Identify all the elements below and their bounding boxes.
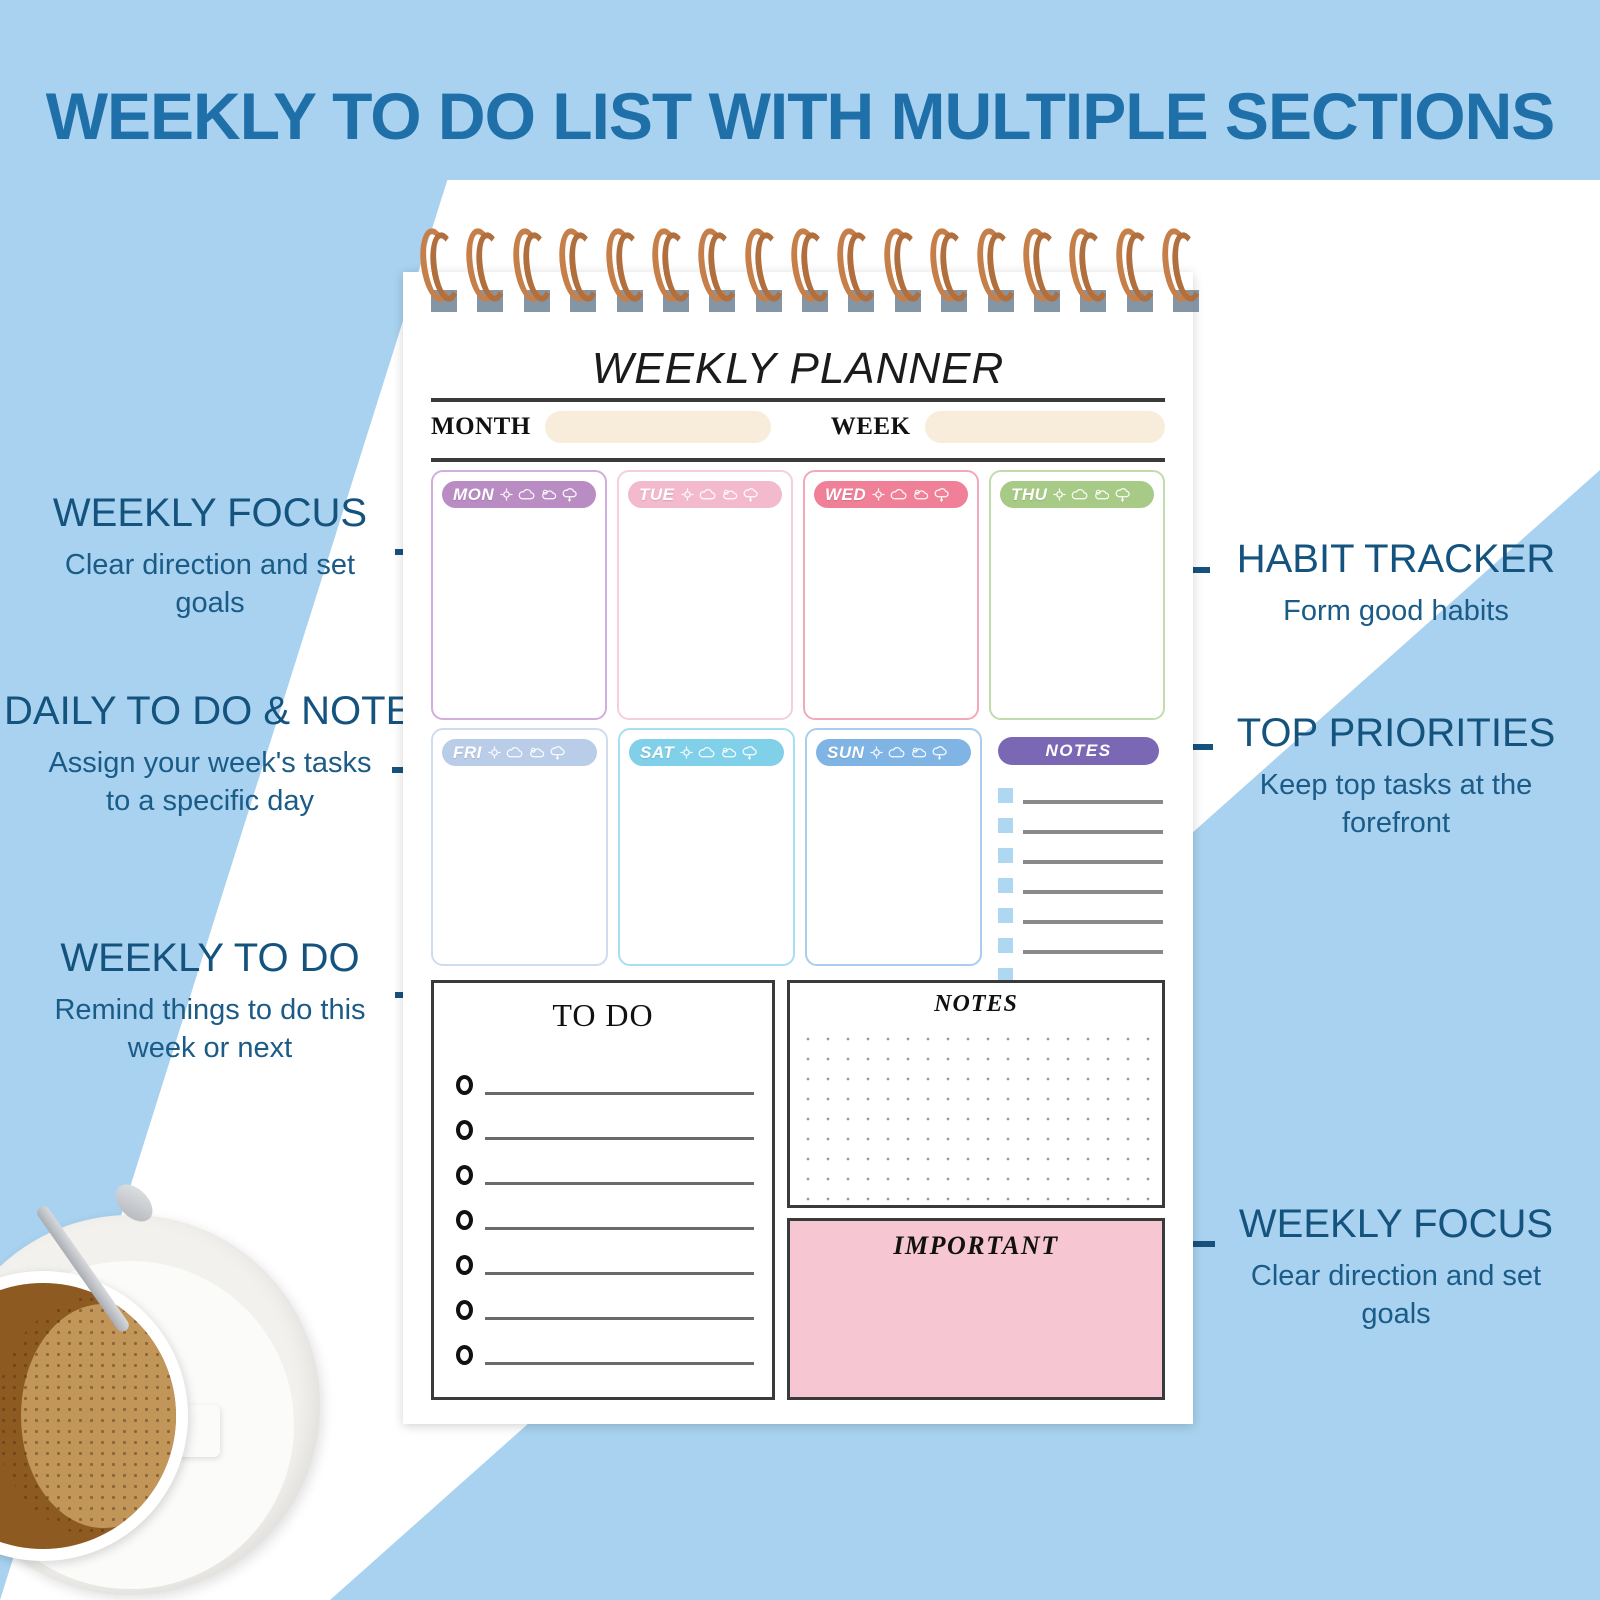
cloud-icon[interactable] (518, 488, 535, 501)
top-priorities-panel: NOTES (992, 728, 1165, 966)
priority-checkbox[interactable] (998, 938, 1013, 953)
spiral-ring (931, 228, 971, 320)
spiral-ring (1024, 228, 1064, 320)
spiral-ring (1070, 228, 1110, 320)
notes-dot-grid (790, 1025, 1162, 1205)
priority-write-line[interactable] (1023, 920, 1163, 924)
divider-bottom (431, 458, 1165, 462)
day-tab: THU (1000, 481, 1154, 508)
day-cell-sun[interactable]: SUN (805, 728, 982, 966)
sun-icon[interactable] (870, 746, 883, 759)
partly-cloudy-icon[interactable] (912, 488, 929, 501)
day-cell-fri[interactable]: FRI (431, 728, 608, 966)
callout-title: WEEKLY TO DO (8, 937, 412, 979)
callout-subtitle: Clear direction and set goals (1198, 1257, 1594, 1334)
todo-write-line[interactable] (485, 1182, 754, 1185)
week-input[interactable] (925, 411, 1165, 443)
day-label: FRI (453, 743, 482, 763)
todo-write-line[interactable] (485, 1272, 754, 1275)
todo-checkbox-icon[interactable] (456, 1210, 473, 1230)
day-tab: TUE (628, 481, 782, 508)
spiral-ring (838, 228, 878, 320)
callout-title: WEEKLY FOCUS (1198, 1203, 1594, 1245)
notes-tab[interactable]: NOTES (998, 737, 1159, 765)
priority-row[interactable] (998, 840, 1163, 870)
priority-write-line[interactable] (1023, 950, 1163, 954)
sun-icon[interactable] (1053, 488, 1066, 501)
weather-icon-group (680, 746, 757, 760)
priority-write-line[interactable] (1023, 800, 1163, 804)
partly-cloudy-icon[interactable] (720, 746, 737, 759)
cloud-icon[interactable] (699, 488, 716, 501)
divider-top (431, 398, 1165, 402)
poster-canvas: WEEKLY TO DO LIST WITH MULTIPLE SECTIONS… (0, 0, 1600, 1600)
callout-subtitle: Clear direction and set goals (10, 546, 410, 623)
day-tab: SUN (816, 739, 971, 766)
todo-row[interactable] (456, 1236, 754, 1281)
partly-cloudy-icon[interactable] (910, 746, 927, 759)
partly-cloudy-icon[interactable] (1093, 488, 1110, 501)
important-title: IMPORTANT (790, 1221, 1162, 1261)
todo-row[interactable] (456, 1056, 754, 1101)
priority-checkbox[interactable] (998, 818, 1013, 833)
partly-cloudy-icon[interactable] (540, 488, 557, 501)
spiral-ring (421, 228, 461, 320)
spiral-ring (467, 228, 507, 320)
month-week-row: MONTH WEEK (431, 406, 1165, 448)
rain-cloud-icon[interactable] (550, 746, 565, 760)
todo-row[interactable] (456, 1281, 754, 1326)
callout-subtitle: Keep top tasks at the forefront (1198, 766, 1594, 843)
callout-subtitle: Form good habits (1198, 592, 1594, 630)
coffee-cup-photo (0, 1195, 400, 1600)
spiral-ring (607, 228, 647, 320)
todo-checkbox-icon[interactable] (456, 1120, 473, 1140)
spiral-ring (978, 228, 1018, 320)
planner-notebook: WEEKLY PLANNER MONTH WEEK MONTUEWEDTHU F… (403, 272, 1193, 1424)
spoon (50, 1201, 220, 1321)
sun-icon[interactable] (500, 488, 513, 501)
priority-row[interactable] (998, 900, 1163, 930)
weather-icon-group (488, 746, 565, 760)
important-panel[interactable]: IMPORTANT (787, 1218, 1165, 1400)
priority-checkbox[interactable] (998, 848, 1013, 863)
cloud-icon[interactable] (506, 746, 523, 759)
day-label: SUN (827, 743, 864, 763)
spiral-ring (514, 228, 554, 320)
callout-title: DAILY TO DO & NOTES (4, 690, 416, 732)
day-label: WED (825, 485, 866, 505)
todo-row[interactable] (456, 1101, 754, 1146)
todo-write-line[interactable] (485, 1227, 754, 1230)
callout-title: TOP PRIORITIES (1198, 712, 1594, 754)
rain-cloud-icon[interactable] (743, 488, 758, 502)
month-label: MONTH (431, 413, 531, 441)
spiral-ring (653, 228, 693, 320)
spiral-ring (1163, 228, 1203, 320)
callout-subtitle: Assign your week's tasks to a specific d… (4, 744, 416, 821)
planner-page: WEEKLY PLANNER MONTH WEEK MONTUEWEDTHU F… (403, 272, 1193, 1424)
notes-title: NOTES (790, 983, 1162, 1018)
cloud-icon[interactable] (888, 746, 905, 759)
todo-write-line[interactable] (485, 1092, 754, 1095)
right-column: NOTES IMPORTANT (787, 980, 1165, 1400)
weather-icon-group (1053, 488, 1130, 502)
day-label: SAT (640, 743, 674, 763)
weather-icon-group (872, 488, 949, 502)
callout-title: WEEKLY FOCUS (10, 492, 410, 534)
spoon-handle (35, 1204, 132, 1334)
priority-write-line[interactable] (1023, 830, 1163, 834)
spiral-ring (699, 228, 739, 320)
priority-row[interactable] (998, 780, 1163, 810)
rain-cloud-icon[interactable] (934, 488, 949, 502)
day-tab: SAT (629, 739, 784, 766)
callout-weekly-focus-left: WEEKLY FOCUS Clear direction and set goa… (10, 492, 410, 623)
day-grid-row-2: FRISATSUNNOTES (431, 728, 1165, 966)
spiral-ring (792, 228, 832, 320)
todo-checkbox-icon[interactable] (456, 1075, 473, 1095)
todo-checkbox-icon[interactable] (456, 1165, 473, 1185)
callout-daily-todo-notes: DAILY TO DO & NOTES Assign your week's t… (4, 690, 416, 821)
spiral-ring (1117, 228, 1157, 320)
day-tab: WED (814, 481, 968, 508)
partly-cloudy-icon[interactable] (528, 746, 545, 759)
rain-cloud-icon[interactable] (932, 746, 947, 760)
spiral-binding (403, 228, 1193, 333)
todo-write-line[interactable] (485, 1137, 754, 1140)
notes-panel[interactable]: NOTES (787, 980, 1165, 1208)
callout-title: HABIT TRACKER (1198, 538, 1594, 580)
rain-cloud-icon[interactable] (742, 746, 757, 760)
sun-icon[interactable] (488, 746, 501, 759)
todo-checkbox-icon[interactable] (456, 1345, 473, 1365)
spiral-ring (885, 228, 925, 320)
callout-top-priorities: TOP PRIORITIES Keep top tasks at the for… (1198, 712, 1594, 843)
todo-title: TO DO (434, 997, 772, 1034)
bottom-section: TO DO NOTES IMPORTANT (431, 980, 1165, 1400)
coffee-liquid (0, 1283, 176, 1549)
todo-checkbox-icon[interactable] (456, 1255, 473, 1275)
sun-icon[interactable] (680, 746, 693, 759)
day-cell-sat[interactable]: SAT (618, 728, 795, 966)
priority-list (998, 780, 1163, 990)
spiral-ring (746, 228, 786, 320)
day-label: THU (1011, 485, 1047, 505)
weather-icon-group (870, 746, 947, 760)
priority-checkbox[interactable] (998, 788, 1013, 803)
partly-cloudy-icon[interactable] (721, 488, 738, 501)
todo-panel: TO DO (431, 980, 775, 1400)
coffee-bubbles (0, 1283, 176, 1549)
todo-write-line[interactable] (485, 1317, 754, 1320)
todo-list (434, 1056, 772, 1371)
day-label: MON (453, 485, 494, 505)
month-input[interactable] (545, 411, 771, 443)
priority-row[interactable] (998, 870, 1163, 900)
priority-row[interactable] (998, 930, 1163, 960)
callout-habit-tracker: HABIT TRACKER Form good habits (1198, 538, 1594, 630)
rain-cloud-icon[interactable] (562, 488, 577, 502)
todo-row[interactable] (456, 1191, 754, 1236)
page-title: WEEKLY TO DO LIST WITH MULTIPLE SECTIONS (0, 78, 1600, 154)
weather-icon-group (500, 488, 577, 502)
weather-icon-group (681, 488, 758, 502)
day-cell-mon[interactable]: MON (431, 470, 607, 720)
callout-weekly-todo: WEEKLY TO DO Remind things to do this we… (8, 937, 412, 1068)
callout-weekly-focus-right: WEEKLY FOCUS Clear direction and set goa… (1198, 1203, 1594, 1334)
week-label: WEEK (831, 413, 911, 441)
day-label: TUE (639, 485, 675, 505)
spiral-ring (560, 228, 600, 320)
day-grid-row-1: MONTUEWEDTHU (431, 470, 1165, 720)
day-cell-wed[interactable]: WED (803, 470, 979, 720)
priority-write-line[interactable] (1023, 890, 1163, 894)
callout-subtitle: Remind things to do this week or next (8, 991, 412, 1068)
priority-checkbox[interactable] (998, 878, 1013, 893)
cloud-icon[interactable] (1071, 488, 1088, 501)
cloud-icon[interactable] (698, 746, 715, 759)
planner-title: WEEKLY PLANNER (403, 344, 1193, 394)
day-tab: FRI (442, 739, 597, 766)
priority-write-line[interactable] (1023, 860, 1163, 864)
rain-cloud-icon[interactable] (1115, 488, 1130, 502)
cloud-icon[interactable] (890, 488, 907, 501)
priority-row[interactable] (998, 810, 1163, 840)
priority-checkbox[interactable] (998, 908, 1013, 923)
day-cell-tue[interactable]: TUE (617, 470, 793, 720)
sun-icon[interactable] (681, 488, 694, 501)
todo-row[interactable] (456, 1146, 754, 1191)
todo-row[interactable] (456, 1326, 754, 1371)
sun-icon[interactable] (872, 488, 885, 501)
day-cell-thu[interactable]: THU (989, 470, 1165, 720)
day-tab: MON (442, 481, 596, 508)
todo-checkbox-icon[interactable] (456, 1300, 473, 1320)
todo-write-line[interactable] (485, 1362, 754, 1365)
